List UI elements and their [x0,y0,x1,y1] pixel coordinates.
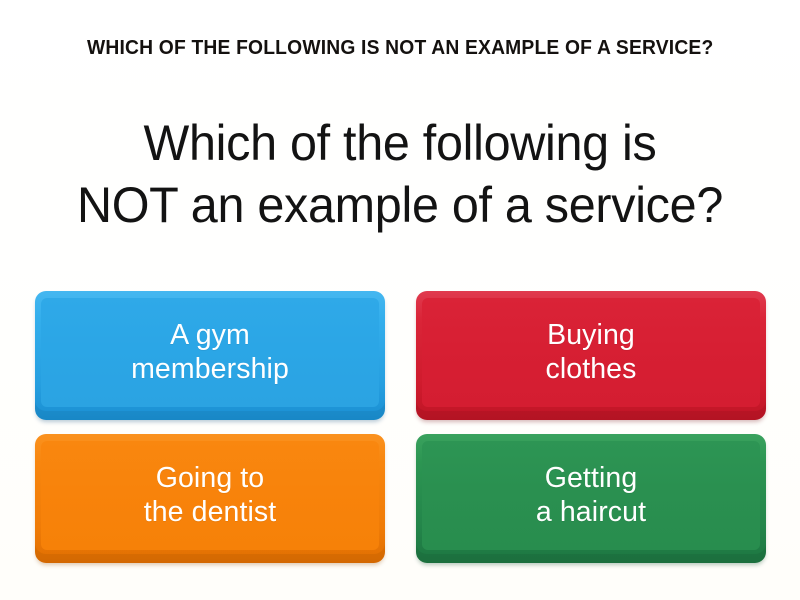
question-line-2: NOT an example of a service? [26,174,775,236]
question-line-1: Which of the following is [26,112,775,174]
question-block: Which of the following is NOT an example… [0,112,800,236]
answer-option-buying-clothes[interactable]: Buying clothes [416,291,766,420]
answer-option-label: Buying clothes [545,318,636,394]
quiz-header-title: WHICH OF THE FOLLOWING IS NOT AN EXAMPLE… [87,36,713,60]
answer-option-label: Going to the dentist [144,461,277,537]
answer-option-a-gym-membership[interactable]: A gym membership [35,291,385,420]
quiz-stage: WHICH OF THE FOLLOWING IS NOT AN EXAMPLE… [0,0,800,600]
answer-option-label: Getting a haircut [536,461,646,537]
answers-grid: A gym membership Buying clothes Going to… [35,291,766,564]
quiz-header: WHICH OF THE FOLLOWING IS NOT AN EXAMPLE… [0,36,800,60]
answer-option-label: A gym membership [131,318,289,394]
answer-option-getting-a-haircut[interactable]: Getting a haircut [416,434,766,563]
answer-option-going-to-the-dentist[interactable]: Going to the dentist [35,434,385,563]
